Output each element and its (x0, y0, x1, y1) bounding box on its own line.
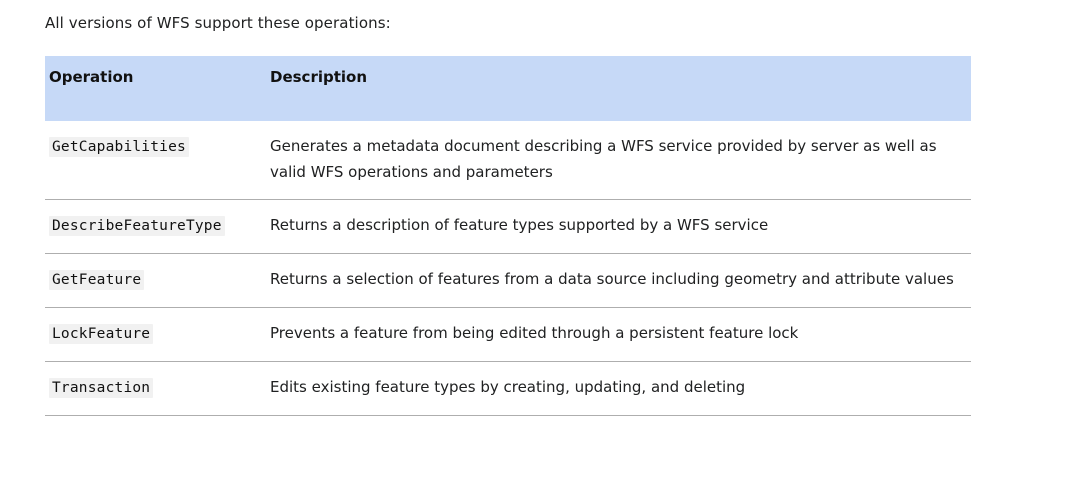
table-cell-description: Edits existing feature types by creating… (270, 362, 971, 416)
table-row: Transaction Edits existing feature types… (45, 362, 971, 416)
operation-code-getfeature: GetFeature (49, 270, 144, 290)
table-cell-description: Returns a selection of features from a d… (270, 254, 971, 308)
description-text: Generates a metadata document describing… (270, 133, 960, 185)
table-cell-description: Prevents a feature from being edited thr… (270, 308, 971, 362)
table-header: Operation Description (45, 56, 971, 121)
table-footer-row (45, 416, 971, 435)
table-cell-operation: LockFeature (45, 308, 270, 362)
table-footer-rule (45, 416, 971, 435)
table-row: LockFeature Prevents a feature from bein… (45, 308, 971, 362)
operation-code-getcapabilities: GetCapabilities (49, 137, 189, 157)
column-header-description: Description (270, 56, 971, 121)
document-page: All versions of WFS support these operat… (0, 0, 1067, 477)
table-footer-cell (270, 416, 971, 435)
table-cell-operation: GetCapabilities (45, 121, 270, 200)
wfs-operations-table: Operation Description GetCapabilities Ge… (45, 56, 971, 434)
operation-code-lockfeature: LockFeature (49, 324, 153, 344)
description-text: Returns a description of feature types s… (270, 212, 960, 238)
table-row: GetFeature Returns a selection of featur… (45, 254, 971, 308)
table-footer-cell (45, 416, 270, 435)
description-text: Edits existing feature types by creating… (270, 374, 960, 400)
operation-code-transaction: Transaction (49, 378, 153, 398)
table-row: GetCapabilities Generates a metadata doc… (45, 121, 971, 200)
table-cell-description: Generates a metadata document describing… (270, 121, 971, 200)
table-row: DescribeFeatureType Returns a descriptio… (45, 200, 971, 254)
column-header-operation: Operation (45, 56, 270, 121)
operation-code-describefeaturetype: DescribeFeatureType (49, 216, 225, 236)
description-text: Returns a selection of features from a d… (270, 266, 960, 292)
table-body: GetCapabilities Generates a metadata doc… (45, 121, 971, 416)
table-cell-operation: GetFeature (45, 254, 270, 308)
table-header-row: Operation Description (45, 56, 971, 121)
table-cell-operation: Transaction (45, 362, 270, 416)
description-text: Prevents a feature from being edited thr… (270, 320, 960, 346)
intro-paragraph: All versions of WFS support these operat… (45, 12, 1067, 34)
table-cell-operation: DescribeFeatureType (45, 200, 270, 254)
table-cell-description: Returns a description of feature types s… (270, 200, 971, 254)
